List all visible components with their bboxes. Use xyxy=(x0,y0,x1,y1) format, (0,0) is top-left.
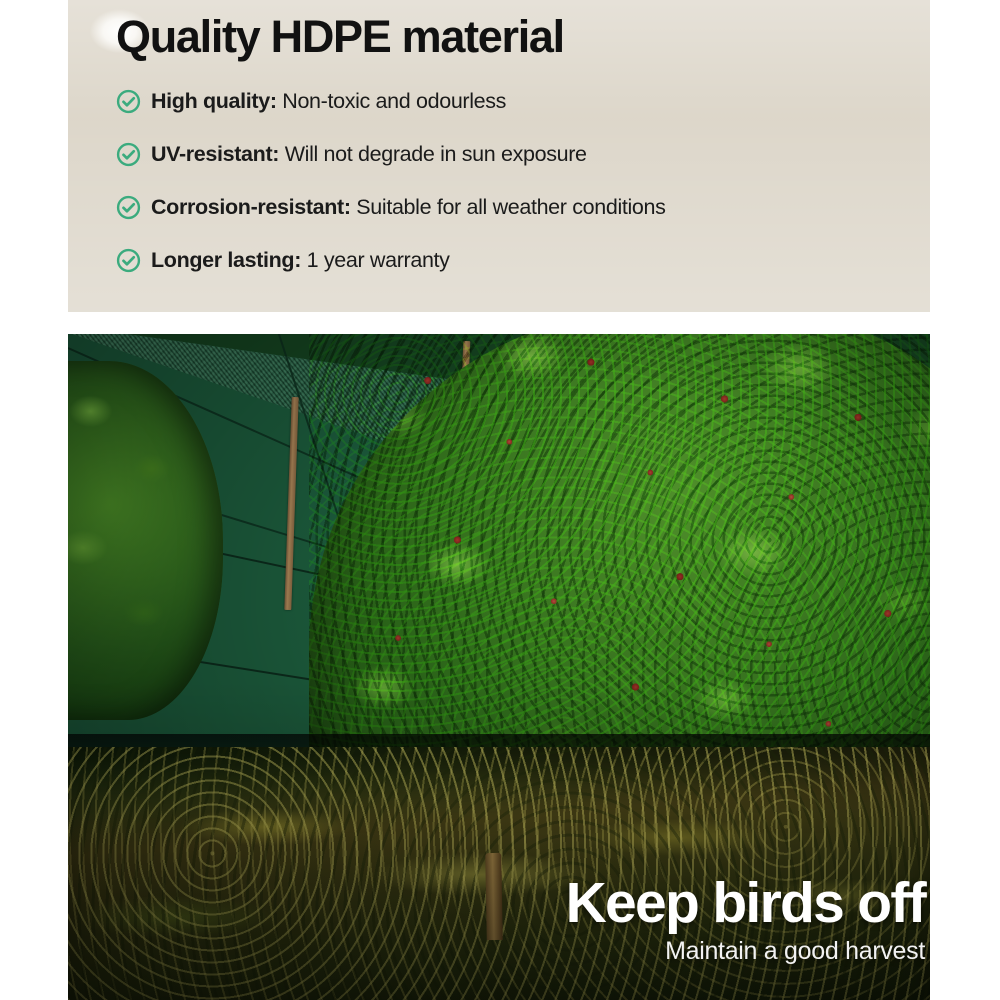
check-circle-icon xyxy=(116,248,141,273)
feature-description: Suitable for all weather conditions xyxy=(356,195,665,219)
product-feature-page: Quality HDPE material High quality: Non-… xyxy=(0,0,1000,1000)
check-circle-icon xyxy=(116,142,141,167)
feature-description: 1 year warranty xyxy=(307,248,450,272)
check-circle-icon xyxy=(116,89,141,114)
feature-list: High quality: Non-toxic and odourless UV… xyxy=(116,75,930,287)
wooden-stump xyxy=(485,853,503,940)
photo-caption-overlay: Keep birds off Maintain a good harvest xyxy=(566,875,925,966)
feature-item-high-quality: High quality: Non-toxic and odourless xyxy=(116,75,930,128)
feature-text: Longer lasting: 1 year warranty xyxy=(151,248,450,273)
orchard-photo-panel: Keep birds off Maintain a good harvest xyxy=(68,334,930,1000)
feature-item-longer-lasting: Longer lasting: 1 year warranty xyxy=(116,234,930,287)
feature-label: UV-resistant: xyxy=(151,142,279,166)
page-title: Quality HDPE material xyxy=(116,14,930,61)
feature-description: Non-toxic and odourless xyxy=(282,89,506,113)
check-circle-icon xyxy=(116,195,141,220)
hdpe-panel-content: Quality HDPE material High quality: Non-… xyxy=(68,0,930,312)
feature-text: Corrosion-resistant: Suitable for all we… xyxy=(151,195,666,220)
hdpe-material-panel: Quality HDPE material High quality: Non-… xyxy=(68,0,930,312)
feature-label: Longer lasting: xyxy=(151,248,301,272)
caption-title: Keep birds off xyxy=(566,875,925,932)
caption-subtitle: Maintain a good harvest xyxy=(566,938,925,966)
feature-item-corrosion-resistant: Corrosion-resistant: Suitable for all we… xyxy=(116,181,930,234)
feature-description: Will not degrade in sun exposure xyxy=(285,142,587,166)
feature-label: Corrosion-resistant: xyxy=(151,195,351,219)
feature-text: UV-resistant: Will not degrade in sun ex… xyxy=(151,142,587,167)
feature-item-uv-resistant: UV-resistant: Will not degrade in sun ex… xyxy=(116,128,930,181)
feature-text: High quality: Non-toxic and odourless xyxy=(151,89,506,114)
feature-label: High quality: xyxy=(151,89,277,113)
